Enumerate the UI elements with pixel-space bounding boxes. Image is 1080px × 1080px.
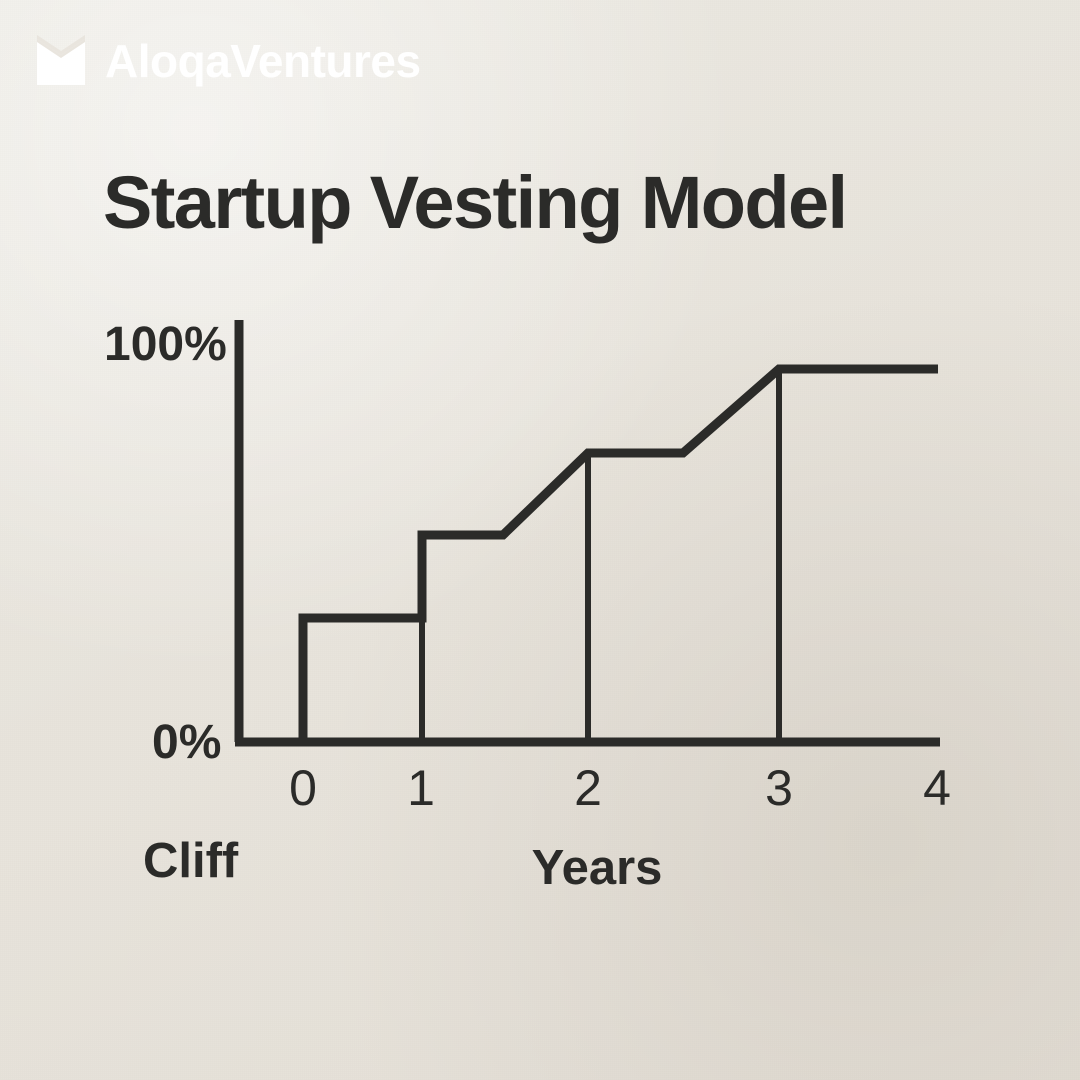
poster-canvas: AloqaVentures Startup Vesting Model 100%…	[0, 0, 1080, 1080]
x-tick-3: 3	[765, 760, 793, 816]
x-tick-0: 0	[289, 760, 317, 816]
vesting-curve	[303, 369, 938, 742]
chart-svg: 100% 0% 0 1 2 3 4 Cliff Years	[0, 0, 1080, 1080]
vesting-chart: 100% 0% 0 1 2 3 4 Cliff Years	[0, 0, 1080, 1080]
cliff-annotation: Cliff	[143, 834, 239, 888]
x-tick-2: 2	[574, 760, 602, 816]
x-tick-4: 4	[923, 760, 951, 816]
x-axis-title: Years	[532, 841, 663, 895]
y-axis-label-max: 100%	[104, 318, 227, 371]
x-tick-1: 1	[407, 760, 435, 816]
y-axis-label-min: 0%	[152, 716, 221, 769]
